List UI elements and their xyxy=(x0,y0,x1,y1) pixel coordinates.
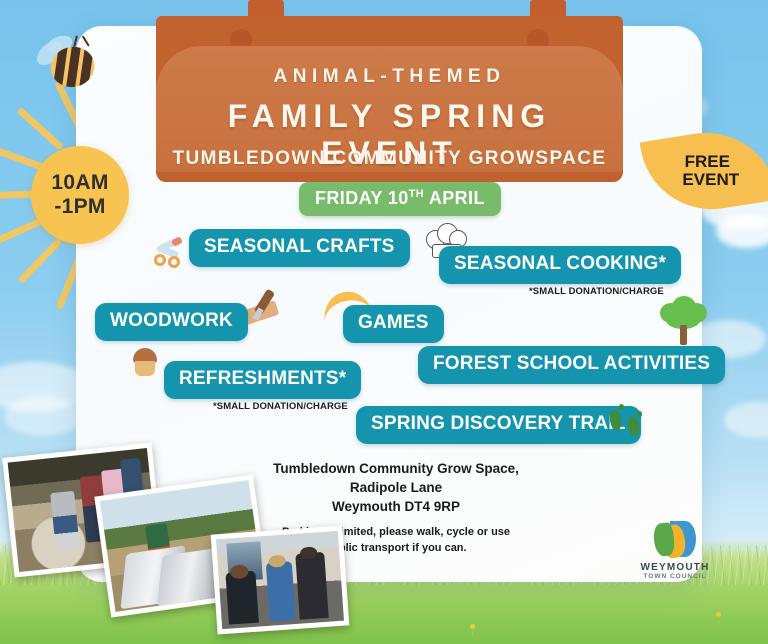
council-logo-name: WEYMOUTH xyxy=(632,562,718,573)
address-line-3: Weymouth DT4 9RP xyxy=(216,497,576,516)
time-start: 10AM xyxy=(51,171,108,195)
activity-pill-refreshments[interactable]: REFRESHMENTS* xyxy=(164,361,361,399)
address-line-2: Radipole Lane xyxy=(216,478,576,497)
time-end: -1PM xyxy=(54,195,105,219)
event-label: EVENT xyxy=(682,171,739,189)
activity-pill-seasonal-cooking[interactable]: SEASONAL COOKING* xyxy=(439,246,681,284)
sign-venue: TUMBLEDOWN COMMUNITY GROWSPACE xyxy=(156,148,623,170)
council-logo-subtitle: TOWN COUNCIL xyxy=(632,573,718,580)
event-sign: ANIMAL-THEMED FAMILY SPRING EVENT TUMBLE… xyxy=(156,16,623,182)
date-ordinal: TH xyxy=(409,188,424,200)
address-line-1: Tumbledown Community Grow Space, xyxy=(216,459,576,478)
free-label: FREE xyxy=(685,153,730,171)
photo-children-indoors xyxy=(211,526,350,635)
footprints-icon xyxy=(610,402,650,442)
activity-pill-games[interactable]: GAMES xyxy=(343,305,444,343)
dandelion-icon xyxy=(470,624,475,629)
weymouth-town-council-logo: WEYMOUTH TOWN COUNCIL xyxy=(632,521,718,583)
time-badge: 10AM -1PM xyxy=(31,146,129,244)
date-suffix: APRIL xyxy=(424,188,485,208)
cloud xyxy=(4,396,82,436)
muffin-icon xyxy=(133,348,161,378)
activity-note-cooking: *SMALL DONATION/CHARGE xyxy=(529,286,664,297)
activity-note-refreshments: *SMALL DONATION/CHARGE xyxy=(213,401,348,412)
tree-icon xyxy=(656,295,712,345)
activity-pill-forest-school[interactable]: FOREST SCHOOL ACTIVITIES xyxy=(418,346,725,384)
scissors-icon xyxy=(152,232,192,276)
activity-pill-spring-discovery-trail[interactable]: SPRING DISCOVERY TRAIL xyxy=(356,406,641,444)
activity-pill-seasonal-crafts[interactable]: SEASONAL CRAFTS xyxy=(189,229,410,267)
activity-pill-woodwork[interactable]: WOODWORK xyxy=(95,303,248,341)
event-poster: ANIMAL-THEMED FAMILY SPRING EVENT TUMBLE… xyxy=(0,0,768,644)
dandelion-icon xyxy=(716,612,721,617)
date-prefix: FRIDAY 10 xyxy=(315,188,409,208)
date-banner: FRIDAY 10TH APRIL xyxy=(299,182,501,216)
sign-subtitle-top: ANIMAL-THEMED xyxy=(156,66,623,88)
council-logo-mark xyxy=(654,521,696,559)
